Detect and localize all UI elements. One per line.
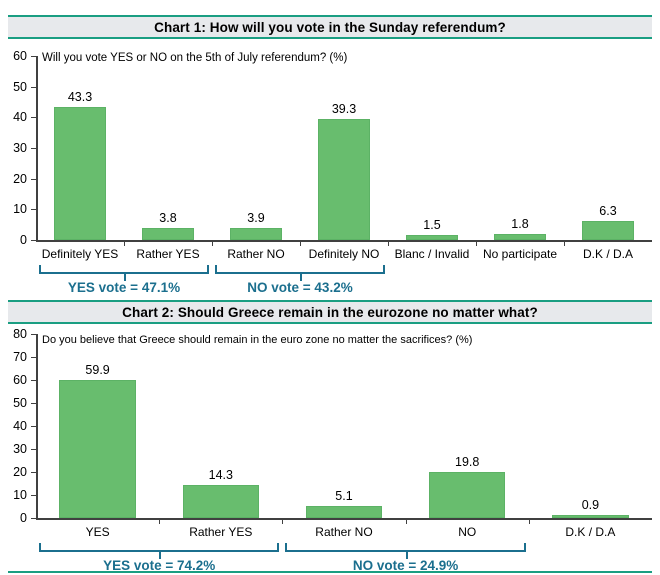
y-tick — [31, 472, 36, 473]
y-tick-label: 40 — [0, 111, 27, 124]
annotation-bracket — [39, 265, 209, 274]
y-tick — [31, 334, 36, 335]
category-label: NO — [402, 525, 533, 539]
y-tick — [31, 357, 36, 358]
bar-value-label: 3.9 — [222, 211, 290, 225]
chart-1-title-band: Chart 1: How will you vote in the Sunday… — [8, 15, 652, 39]
y-tick-label: 50 — [0, 81, 27, 94]
bar-value-label: 59.9 — [64, 363, 132, 377]
y-tick — [31, 179, 36, 180]
y-tick-label: 60 — [0, 50, 27, 63]
chart-1-title: Chart 1: How will you vote in the Sunday… — [154, 20, 506, 35]
category-label: Rather NO — [208, 247, 304, 261]
chart-1-y-axis — [36, 56, 38, 240]
y-tick-label: 10 — [0, 203, 27, 216]
y-tick-label: 0 — [0, 234, 27, 247]
x-tick — [212, 240, 213, 246]
category-label: No participate — [472, 247, 568, 261]
bar-value-label: 1.5 — [398, 218, 466, 232]
category-label: Rather NO — [278, 525, 409, 539]
bar[interactable] — [183, 485, 259, 518]
y-tick — [31, 87, 36, 88]
x-tick — [282, 518, 283, 524]
bar[interactable] — [406, 235, 459, 240]
bottom-rule — [8, 571, 652, 573]
x-tick — [124, 240, 125, 246]
y-tick — [31, 403, 36, 404]
bar[interactable] — [142, 228, 195, 240]
x-tick — [529, 518, 530, 524]
y-tick — [31, 449, 36, 450]
category-label: YES — [32, 525, 163, 539]
category-label: D.K / D.A — [525, 525, 656, 539]
y-tick — [31, 148, 36, 149]
bar-value-label: 1.8 — [486, 217, 554, 231]
chart-2-title: Chart 2: Should Greece remain in the eur… — [122, 305, 538, 320]
y-tick — [31, 426, 36, 427]
bar[interactable] — [582, 221, 635, 240]
y-tick-label: 70 — [0, 351, 27, 364]
bar-value-label: 19.8 — [433, 455, 501, 469]
bar-value-label: 39.3 — [310, 102, 378, 116]
category-label: Definitely NO — [296, 247, 392, 261]
category-label: Blanc / Invalid — [384, 247, 480, 261]
y-tick-label: 20 — [0, 466, 27, 479]
bar-value-label: 3.8 — [134, 211, 202, 225]
y-tick-label: 30 — [0, 142, 27, 155]
bar[interactable] — [494, 234, 547, 240]
bar[interactable] — [429, 472, 505, 518]
bar[interactable] — [318, 119, 371, 240]
x-tick — [159, 518, 160, 524]
x-tick — [564, 240, 565, 246]
x-tick — [388, 240, 389, 246]
annotation-bracket — [285, 543, 525, 552]
annotation-bracket — [215, 265, 385, 274]
category-label: Rather YES — [155, 525, 286, 539]
bar[interactable] — [59, 380, 135, 518]
report-page: Chart 1: How will you vote in the Sunday… — [0, 0, 660, 575]
x-tick — [300, 240, 301, 246]
annotation-bracket — [39, 543, 279, 552]
x-tick — [406, 518, 407, 524]
y-tick — [31, 209, 36, 210]
y-tick — [31, 380, 36, 381]
bar[interactable] — [54, 107, 107, 240]
y-tick-label: 80 — [0, 328, 27, 341]
bar[interactable] — [230, 228, 283, 240]
category-label: Definitely YES — [32, 247, 128, 261]
bar[interactable] — [306, 506, 382, 518]
y-tick — [31, 495, 36, 496]
chart-1-x-axis — [36, 240, 652, 242]
y-tick — [31, 56, 36, 57]
y-tick — [31, 117, 36, 118]
y-tick-label: 0 — [0, 512, 27, 525]
chart-2-x-axis — [36, 518, 652, 520]
y-tick-label: 20 — [0, 173, 27, 186]
y-tick-label: 10 — [0, 489, 27, 502]
y-tick-label: 50 — [0, 397, 27, 410]
chart-2-subtitle: Do you believe that Greece should remain… — [42, 334, 472, 346]
x-tick — [476, 240, 477, 246]
category-label: D.K / D.A — [560, 247, 656, 261]
chart-2-y-axis — [36, 334, 38, 518]
bar-value-label: 6.3 — [574, 204, 642, 218]
y-tick-label: 30 — [0, 443, 27, 456]
y-tick-label: 60 — [0, 374, 27, 387]
bar-value-label: 43.3 — [46, 90, 114, 104]
y-tick-label: 40 — [0, 420, 27, 433]
bar[interactable] — [552, 515, 628, 518]
chart-1-subtitle: Will you vote YES or NO on the 5th of Ju… — [42, 52, 347, 64]
chart-2-title-band: Chart 2: Should Greece remain in the eur… — [8, 300, 652, 324]
bar-value-label: 5.1 — [310, 489, 378, 503]
annotation-label: NO vote = 43.2% — [195, 280, 405, 295]
category-label: Rather YES — [120, 247, 216, 261]
bar-value-label: 14.3 — [187, 468, 255, 482]
bar-value-label: 0.9 — [556, 498, 624, 512]
